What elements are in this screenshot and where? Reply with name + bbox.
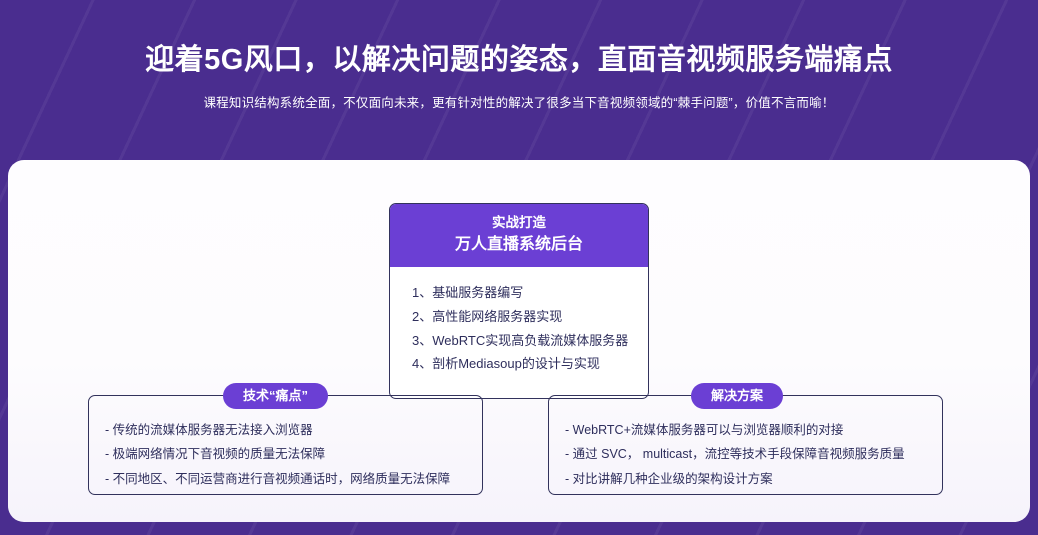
list-item: - 对比讲解几种企业级的架构设计方案 bbox=[565, 467, 942, 491]
list-item: 1、基础服务器编写 bbox=[412, 281, 648, 305]
center-card-title-line2: 万人直播系统后台 bbox=[398, 233, 640, 256]
page-title: 迎着5G风口，以解决问题的姿态，直面音视频服务端痛点 bbox=[0, 42, 1038, 78]
list-item: - WebRTC+流媒体服务器可以与浏览器顺利的对接 bbox=[565, 418, 942, 442]
center-feature-card: 实战打造 万人直播系统后台 1、基础服务器编写 2、高性能网络服务器实现 3、W… bbox=[389, 203, 649, 399]
list-item: 4、剖析Mediasoup的设计与实现 bbox=[412, 352, 648, 376]
pain-points-box: 技术“痛点” - 传统的流媒体服务器无法接入浏览器 - 极端网络情况下音视频的质… bbox=[88, 395, 483, 495]
solutions-list: - WebRTC+流媒体服务器可以与浏览器顺利的对接 - 通过 SVC， mul… bbox=[549, 396, 942, 491]
list-item: 2、高性能网络服务器实现 bbox=[412, 305, 648, 329]
page-subtitle: 课程知识结构系统全面，不仅面向未来，更有针对性的解决了很多当下音视频领域的“棘手… bbox=[0, 92, 1038, 111]
list-item: - 极端网络情况下音视频的质量无法保障 bbox=[105, 442, 482, 466]
list-item: - 不同地区、不同运营商进行音视频通话时，网络质量无法保障 bbox=[105, 467, 482, 491]
list-item: 3、WebRTC实现高负载流媒体服务器 bbox=[412, 329, 648, 353]
solutions-badge: 解决方案 bbox=[691, 383, 783, 409]
list-item: - 通过 SVC， multicast，流控等技术手段保障音视频服务质量 bbox=[565, 442, 942, 466]
list-item: - 传统的流媒体服务器无法接入浏览器 bbox=[105, 418, 482, 442]
pain-points-list: - 传统的流媒体服务器无法接入浏览器 - 极端网络情况下音视频的质量无法保障 -… bbox=[89, 396, 482, 491]
center-card-title-line1: 实战打造 bbox=[398, 213, 640, 233]
header: 迎着5G风口，以解决问题的姿态，直面音视频服务端痛点 课程知识结构系统全面，不仅… bbox=[0, 42, 1038, 111]
slide-root: 迎着5G风口，以解决问题的姿态，直面音视频服务端痛点 课程知识结构系统全面，不仅… bbox=[0, 0, 1038, 535]
solutions-box: 解决方案 - WebRTC+流媒体服务器可以与浏览器顺利的对接 - 通过 SVC… bbox=[548, 395, 943, 495]
pain-points-badge: 技术“痛点” bbox=[223, 383, 328, 409]
center-card-item-list: 1、基础服务器编写 2、高性能网络服务器实现 3、WebRTC实现高负载流媒体服… bbox=[390, 267, 648, 398]
center-card-header: 实战打造 万人直播系统后台 bbox=[390, 204, 648, 267]
